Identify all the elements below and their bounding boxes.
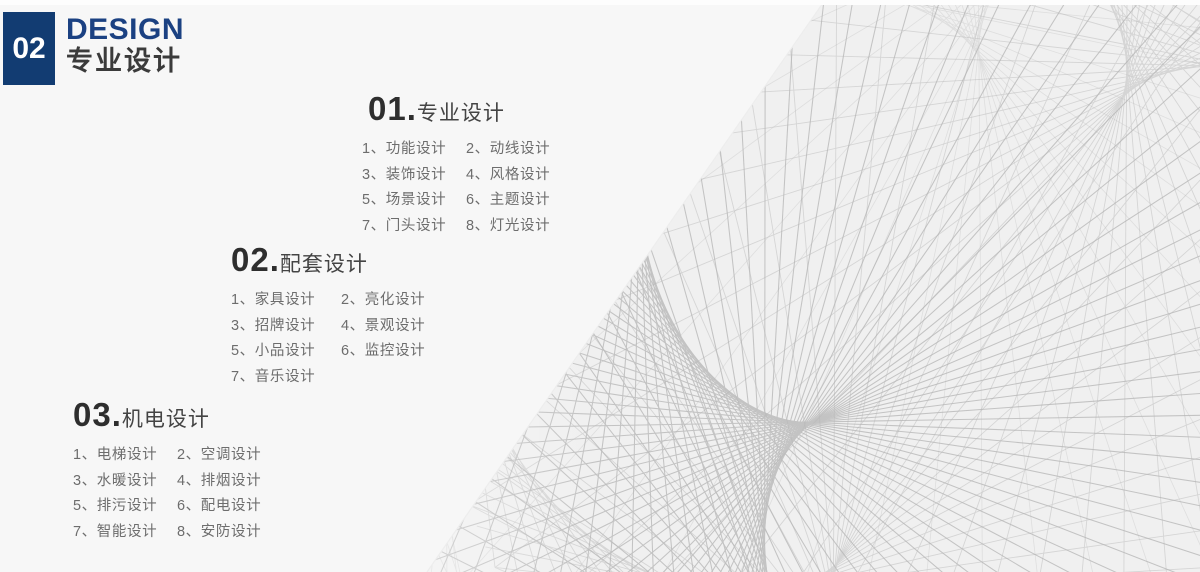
- list-item: 5、场景设计 6、主题设计: [362, 193, 570, 208]
- item-label: 3、水暖设计: [73, 474, 177, 489]
- block-03-name: 机电设计: [122, 408, 210, 431]
- item-label: 7、智能设计: [73, 525, 177, 540]
- list-item: 3、装饰设计 4、风格设计: [362, 168, 570, 183]
- list-item: 5、小品设计 6、监控设计: [231, 344, 451, 359]
- item-label: 3、装饰设计: [362, 168, 466, 183]
- header-title-group: DESIGN 专业设计: [66, 14, 184, 77]
- block-01-item-list: 1、功能设计 2、动线设计 3、装饰设计 4、风格设计 5、场景设计 6、主题设…: [362, 142, 570, 233]
- block-03-heading: 03.机电设计: [73, 398, 281, 431]
- item-label: 5、小品设计: [231, 344, 341, 359]
- block-02-number: 02: [231, 241, 270, 278]
- block-03-item-list: 1、电梯设计 2、空调设计 3、水暖设计 4、排烟设计 5、排污设计 6、配电设…: [73, 448, 281, 539]
- block-02-heading: 02.配套设计: [231, 243, 451, 276]
- page-title-cn: 专业设计: [66, 47, 184, 76]
- content-block-02: 02.配套设计 1、家具设计 2、亮化设计 3、招牌设计 4、景观设计 5、小品…: [231, 243, 451, 395]
- item-label: 5、排污设计: [73, 499, 177, 514]
- list-item: 1、家具设计 2、亮化设计: [231, 293, 451, 308]
- item-label: 2、亮化设计: [341, 293, 451, 308]
- block-01-dot: .: [407, 90, 416, 127]
- item-label: 5、场景设计: [362, 193, 466, 208]
- content-block-03: 03.机电设计 1、电梯设计 2、空调设计 3、水暖设计 4、排烟设计 5、排污…: [73, 398, 281, 550]
- list-item: 5、排污设计 6、配电设计: [73, 499, 281, 514]
- block-01-heading: 01.专业设计: [368, 92, 570, 125]
- list-item: 7、门头设计 8、灯光设计: [362, 219, 570, 234]
- item-label: 4、景观设计: [341, 319, 451, 334]
- item-label: 2、动线设计: [466, 142, 570, 157]
- block-01-name: 专业设计: [417, 102, 505, 125]
- content-block-01: 01.专业设计 1、功能设计 2、动线设计 3、装饰设计 4、风格设计 5、场景…: [368, 92, 570, 244]
- item-label: [341, 370, 451, 385]
- item-label: 1、电梯设计: [73, 448, 177, 463]
- item-label: 7、音乐设计: [231, 370, 341, 385]
- item-label: 4、排烟设计: [177, 474, 281, 489]
- block-01-number: 01: [368, 90, 407, 127]
- block-02-item-list: 1、家具设计 2、亮化设计 3、招牌设计 4、景观设计 5、小品设计 6、监控设…: [231, 293, 451, 384]
- block-03-number: 03: [73, 396, 112, 433]
- item-label: 6、主题设计: [466, 193, 570, 208]
- block-02-name: 配套设计: [280, 253, 368, 276]
- item-label: 6、监控设计: [341, 344, 451, 359]
- item-label: 8、灯光设计: [466, 219, 570, 234]
- list-item: 3、招牌设计 4、景观设计: [231, 319, 451, 334]
- item-label: 1、功能设计: [362, 142, 466, 157]
- item-label: 6、配电设计: [177, 499, 281, 514]
- item-label: 4、风格设计: [466, 168, 570, 183]
- top-edge-band: [0, 0, 1200, 5]
- page-title-en: DESIGN: [66, 14, 184, 46]
- list-item: 7、音乐设计: [231, 370, 451, 385]
- item-label: 1、家具设计: [231, 293, 341, 308]
- slide-canvas: 02 DESIGN 专业设计 01.专业设计 1、功能设计 2、动线设计 3、装…: [0, 0, 1200, 572]
- block-03-dot: .: [112, 396, 121, 433]
- item-label: 2、空调设计: [177, 448, 281, 463]
- item-label: 7、门头设计: [362, 219, 466, 234]
- list-item: 1、电梯设计 2、空调设计: [73, 448, 281, 463]
- item-label: 3、招牌设计: [231, 319, 341, 334]
- list-item: 3、水暖设计 4、排烟设计: [73, 474, 281, 489]
- list-item: 7、智能设计 8、安防设计: [73, 525, 281, 540]
- block-02-dot: .: [270, 241, 279, 278]
- item-label: 8、安防设计: [177, 525, 281, 540]
- section-number-badge: 02: [3, 12, 55, 85]
- list-item: 1、功能设计 2、动线设计: [362, 142, 570, 157]
